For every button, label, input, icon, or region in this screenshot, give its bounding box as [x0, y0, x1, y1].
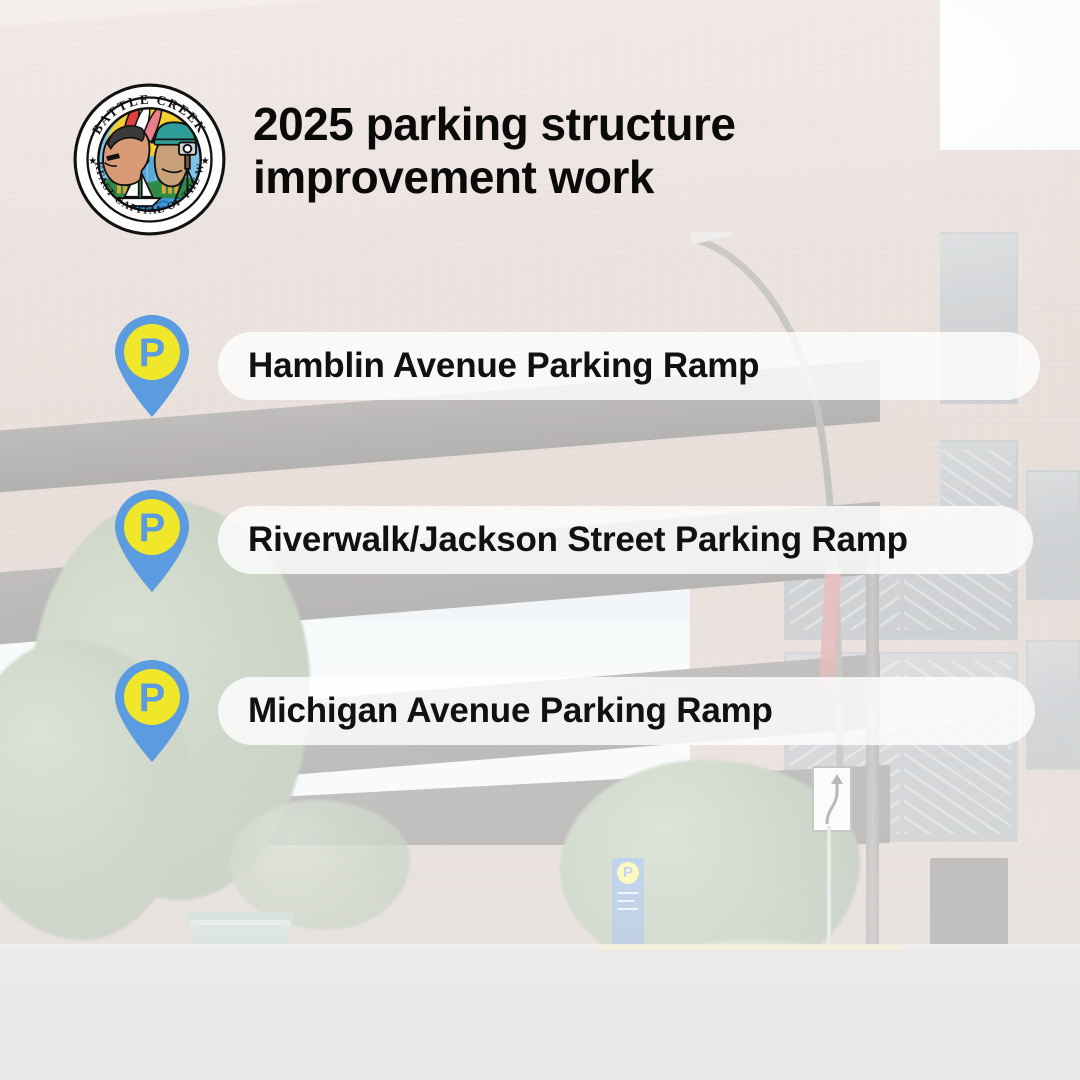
poster-canvas: P [0, 0, 1080, 1080]
pin-letter: P [139, 506, 166, 550]
map-pin-icon: P [109, 655, 195, 763]
city-seal-logo: BATTLE CREEK BREAKFAST CAPITAL OF THE WO… [72, 82, 227, 237]
seal-star-right: ★ [201, 156, 210, 167]
pin-letter: P [139, 676, 166, 720]
location-label: Michigan Avenue Parking Ramp [248, 691, 773, 731]
title-line-2: improvement work [253, 151, 853, 204]
page-title: 2025 parking structure improvement work [253, 98, 853, 205]
location-pill[interactable]: Hamblin Avenue Parking Ramp [218, 332, 1040, 400]
location-label: Hamblin Avenue Parking Ramp [248, 346, 759, 386]
map-pin-icon: P [109, 310, 195, 418]
title-line-1: 2025 parking structure [253, 98, 853, 151]
location-pill[interactable]: Riverwalk/Jackson Street Parking Ramp [218, 506, 1033, 574]
seal-star-left: ★ [88, 156, 97, 167]
content-overlay: BATTLE CREEK BREAKFAST CAPITAL OF THE WO… [0, 0, 1080, 1080]
pin-letter: P [139, 331, 166, 375]
location-label: Riverwalk/Jackson Street Parking Ramp [248, 520, 908, 560]
location-pill[interactable]: Michigan Avenue Parking Ramp [218, 677, 1035, 745]
map-pin-icon: P [109, 485, 195, 593]
